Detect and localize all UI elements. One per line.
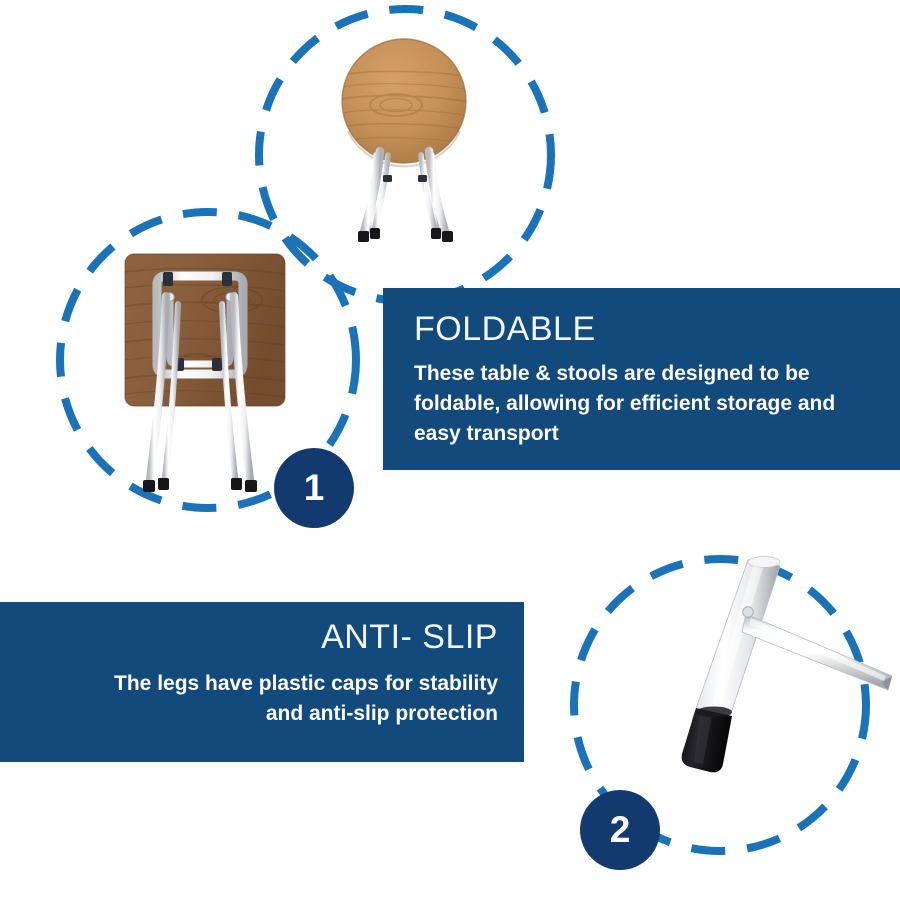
- folded-table-photo: [100, 238, 295, 506]
- panel-body-antislip-line-1: The legs have plastic caps for stability: [24, 669, 498, 699]
- panel-title-foldable: FOLDABLE: [414, 310, 870, 349]
- product-feature-infographic: FOLDABLE These table & stools are design…: [0, 0, 900, 900]
- panel-title-antislip: ANTI- SLIP: [24, 618, 498, 657]
- feature-panel-foldable: FOLDABLE These table & stools are design…: [383, 288, 900, 470]
- feature-panel-antislip: ANTI- SLIP The legs have plastic caps fo…: [0, 602, 524, 762]
- leg-cap-closeup-photo: [620, 548, 900, 778]
- badge-number-2: 2: [610, 811, 631, 848]
- feature-badge-1: 1: [274, 448, 354, 528]
- badge-number-1: 1: [304, 469, 325, 506]
- feature-badge-2: 2: [580, 790, 660, 870]
- panel-body-foldable: These table & stools are designed to be …: [414, 359, 870, 448]
- panel-body-antislip-line-2: and anti-slip protection: [24, 699, 498, 729]
